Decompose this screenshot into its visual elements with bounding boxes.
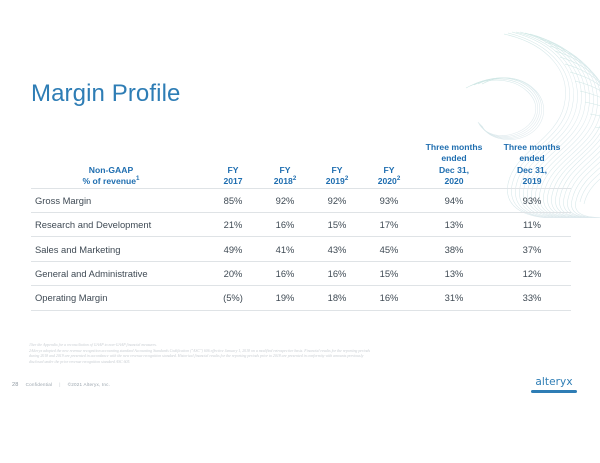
copyright-notice: ©2021 Alteryx, Inc. [68, 382, 110, 387]
cell-value: 45% [363, 237, 415, 261]
cell-value: 38% [415, 237, 493, 261]
cell-value: 93% [363, 188, 415, 212]
table-body: Gross Margin 85% 92% 92% 93% 94% 93% Res… [31, 188, 571, 310]
column-header-label: Non-GAAP % of revenue1 [31, 142, 207, 188]
cell-value: 41% [259, 237, 311, 261]
cell-value: 43% [311, 237, 363, 261]
cell-value: 49% [207, 237, 259, 261]
cell-value: 13% [415, 213, 493, 237]
column-header-three-months-2019: Three months ended Dec 31, 2019 [493, 142, 571, 188]
cell-value: 11% [493, 213, 571, 237]
cell-value: 21% [207, 213, 259, 237]
column-header-fy2020: FY 20202 [363, 142, 415, 188]
table-row: General and Administrative 20% 16% 16% 1… [31, 261, 571, 285]
footnote-marker-2: 2 [397, 175, 400, 182]
cell-value: 94% [415, 188, 493, 212]
cell-value: 85% [207, 188, 259, 212]
cell-value: (5%) [207, 286, 259, 310]
cell-value: 92% [259, 188, 311, 212]
cell-value: 13% [415, 261, 493, 285]
cell-value: 15% [363, 261, 415, 285]
cell-value: 16% [363, 286, 415, 310]
cell-value: 92% [311, 188, 363, 212]
margin-profile-table-container: Non-GAAP % of revenue1 FY 2017 FY 20182 … [31, 142, 569, 311]
cell-value: 93% [493, 188, 571, 212]
cell-value: 17% [363, 213, 415, 237]
column-header-fy2018: FY 20182 [259, 142, 311, 188]
cell-value: 12% [493, 261, 571, 285]
table-row: Research and Development 21% 16% 15% 17%… [31, 213, 571, 237]
table-header-row: Non-GAAP % of revenue1 FY 2017 FY 20182 … [31, 142, 571, 188]
slide-canvas: Margin Profile Non-GAAP % of revenue1 FY… [0, 0, 600, 463]
row-label: General and Administrative [31, 261, 207, 285]
margin-profile-table: Non-GAAP % of revenue1 FY 2017 FY 20182 … [31, 142, 571, 311]
row-label: Operating Margin [31, 286, 207, 310]
footnote-line: disclosed under the prior revenue recogn… [29, 360, 549, 366]
table-header: Non-GAAP % of revenue1 FY 2017 FY 20182 … [31, 142, 571, 188]
footnote-marker-1: 1 [136, 175, 139, 182]
table-row: Gross Margin 85% 92% 92% 93% 94% 93% [31, 188, 571, 212]
column-header-three-months-2020: Three months ended Dec 31, 2020 [415, 142, 493, 188]
cell-value: 16% [311, 261, 363, 285]
footnote-marker-2: 2 [293, 175, 296, 182]
cell-value: 33% [493, 286, 571, 310]
cell-value: 18% [311, 286, 363, 310]
page-title: Margin Profile [31, 80, 180, 108]
cell-value: 16% [259, 213, 311, 237]
column-header-fy2019: FY 20192 [311, 142, 363, 188]
row-label: Research and Development [31, 213, 207, 237]
footnote-marker-2: 2 [345, 175, 348, 182]
row-label: Sales and Marketing [31, 237, 207, 261]
row-label: Gross Margin [31, 188, 207, 212]
page-number: 28 [12, 382, 19, 388]
confidential-label: Confidential [26, 382, 53, 387]
alteryx-logo: alteryx [526, 377, 582, 393]
cell-value: 15% [311, 213, 363, 237]
footer-separator: | [59, 382, 60, 387]
table-row: Operating Margin (5%) 19% 18% 16% 31% 33… [31, 286, 571, 310]
slide-footer: 28 Confidential | ©2021 Alteryx, Inc. [12, 382, 110, 388]
footnotes-block: 1See the Appendix for a reconciliation o… [29, 343, 549, 365]
alteryx-logo-bar [531, 390, 577, 393]
cell-value: 16% [259, 261, 311, 285]
table-row: Sales and Marketing 49% 41% 43% 45% 38% … [31, 237, 571, 261]
cell-value: 19% [259, 286, 311, 310]
alteryx-wordmark: alteryx [526, 377, 582, 388]
column-header-fy2017: FY 2017 [207, 142, 259, 188]
cell-value: 37% [493, 237, 571, 261]
cell-value: 31% [415, 286, 493, 310]
cell-value: 20% [207, 261, 259, 285]
